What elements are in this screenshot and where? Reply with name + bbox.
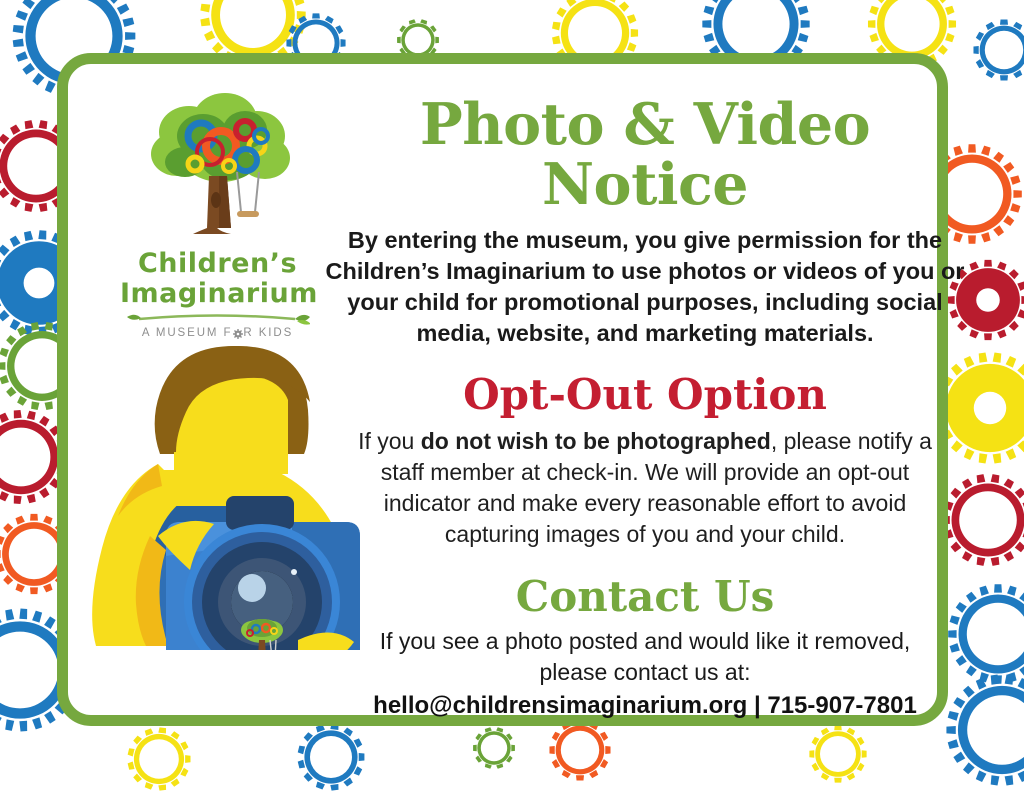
notice-text-column: Photo & Video Notice By entering the mus… bbox=[320, 95, 970, 722]
section-heading-opt-out: Opt-Out Option bbox=[320, 372, 970, 418]
section-heading-contact: Contact Us bbox=[320, 574, 970, 620]
poster-content: Children’s Imaginarium A MUSEUM F bbox=[0, 0, 1024, 791]
childrens-imaginarium-logo: Children’s Imaginarium A MUSEUM F bbox=[120, 88, 315, 339]
contact-paragraph: If you see a photo posted and would like… bbox=[320, 626, 970, 688]
logo-leaf-divider bbox=[125, 310, 310, 326]
page-title: Photo & Video Notice bbox=[320, 95, 970, 215]
opt-out-paragraph: If you do not wish to be photographed, p… bbox=[320, 426, 970, 550]
contact-details: hello@childrensimaginarium.org | 715-907… bbox=[320, 690, 970, 721]
intro-paragraph: By entering the museum, you give permiss… bbox=[320, 225, 970, 350]
photo-video-notice-poster: Children’s Imaginarium A MUSEUM F bbox=[0, 0, 1024, 791]
logo-tree-icon bbox=[133, 88, 303, 248]
logo-name-line2: Imaginarium bbox=[120, 280, 315, 308]
logo-name-line1: Children’s bbox=[120, 250, 315, 278]
opt-out-text-emphasis: do not wish to be photographed bbox=[421, 428, 771, 454]
opt-out-text-prefix: If you bbox=[358, 428, 421, 454]
